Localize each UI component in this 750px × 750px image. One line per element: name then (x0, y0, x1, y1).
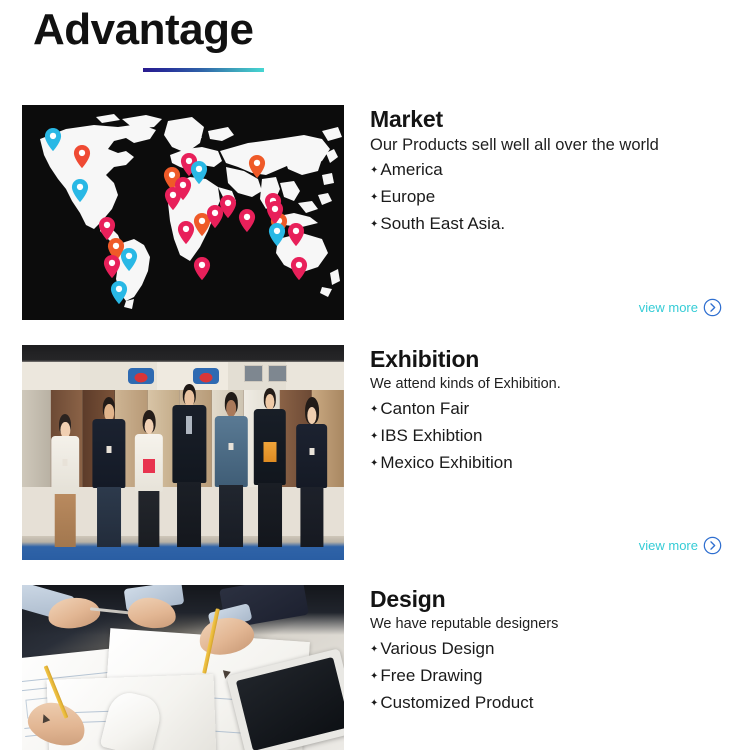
diamond-bullet-icon: ✦ (370, 213, 378, 237)
diamond-bullet-icon: ✦ (370, 452, 378, 476)
market-subtitle: Our Products sell well all over the worl… (370, 134, 740, 156)
pencil-tip-icon (221, 670, 230, 679)
diamond-bullet-icon: ✦ (370, 159, 378, 183)
exhibition-subtitle: We attend kinds of Exhibition. (370, 374, 740, 395)
world-map-svg (22, 105, 344, 320)
diamond-bullet-icon: ✦ (370, 398, 378, 422)
person (131, 410, 166, 548)
section-design: Design We have reputable designers ✦Vari… (0, 585, 750, 750)
list-item: ✦Free Drawing (370, 664, 740, 691)
design-subtitle: We have reputable designers (370, 614, 740, 635)
page-title-block: Advantage (33, 2, 253, 58)
list-item-label: Mexico Exhibition (380, 451, 512, 475)
list-item-label: South East Asia. (380, 212, 505, 236)
diamond-bullet-icon: ✦ (370, 665, 378, 689)
exhibition-view-more-link[interactable]: view more (639, 536, 722, 555)
list-item-label: Various Design (380, 637, 494, 661)
design-bullet-list: ✦Various Design ✦Free Drawing ✦Customize… (370, 637, 740, 718)
chevron-right-circle-icon[interactable] (703, 536, 722, 555)
list-item-label: Customized Product (380, 691, 533, 715)
diamond-bullet-icon: ✦ (370, 425, 378, 449)
market-copy: Market Our Products sell well all over t… (370, 105, 740, 239)
wall-panel (268, 365, 287, 382)
title-underline-rule (143, 68, 264, 72)
diamond-bullet-icon: ✦ (370, 186, 378, 210)
list-item-label: America (380, 158, 442, 182)
page-title: Advantage (33, 2, 253, 58)
list-item-label: Europe (380, 185, 435, 209)
list-item: ✦South East Asia. (370, 212, 740, 239)
list-item: ✦Canton Fair (370, 397, 740, 424)
list-item: ✦Customized Product (370, 691, 740, 718)
wall-panel (244, 365, 263, 382)
booth-logo-icon (193, 368, 219, 384)
view-more-label: view more (639, 538, 698, 554)
exhibition-heading: Exhibition (370, 345, 740, 373)
design-copy: Design We have reputable designers ✦Vari… (370, 585, 740, 718)
exhibition-photo-art (22, 345, 344, 560)
section-exhibition: Exhibition We attend kinds of Exhibition… (0, 345, 750, 560)
market-bullet-list: ✦America ✦Europe ✦South East Asia. (370, 158, 740, 239)
market-view-more-link[interactable]: view more (639, 298, 722, 317)
exhibition-bullet-list: ✦Canton Fair ✦IBS Exhibtion ✦Mexico Exhi… (370, 397, 740, 478)
list-item-label: IBS Exhibtion (380, 424, 482, 448)
chevron-right-circle-icon[interactable] (703, 298, 722, 317)
booth-logo-icon (128, 368, 154, 384)
list-item: ✦IBS Exhibtion (370, 424, 740, 451)
person (170, 384, 209, 547)
design-heading: Design (370, 585, 740, 613)
exhibition-image-booth-photo[interactable] (22, 345, 344, 560)
person (212, 392, 251, 547)
list-item: ✦Europe (370, 185, 740, 212)
diamond-bullet-icon: ✦ (370, 692, 378, 716)
list-item: ✦Various Design (370, 637, 740, 664)
market-heading: Market (370, 105, 740, 133)
person (292, 397, 331, 548)
person (48, 414, 83, 547)
list-item-label: Canton Fair (380, 397, 469, 421)
design-image-blueprint-photo[interactable] (22, 585, 344, 750)
view-more-label: view more (639, 300, 698, 316)
world-map-art (22, 105, 344, 320)
section-market: Market Our Products sell well all over t… (0, 105, 750, 320)
market-image-world-map[interactable] (22, 105, 344, 320)
list-item-label: Free Drawing (380, 664, 482, 688)
design-photo-art (22, 585, 344, 750)
exhibition-copy: Exhibition We attend kinds of Exhibition… (370, 345, 740, 478)
list-item: ✦Mexico Exhibition (370, 451, 740, 478)
display-door (22, 390, 51, 487)
person (90, 397, 129, 548)
diamond-bullet-icon: ✦ (370, 638, 378, 662)
list-item: ✦America (370, 158, 740, 185)
person (251, 388, 290, 547)
